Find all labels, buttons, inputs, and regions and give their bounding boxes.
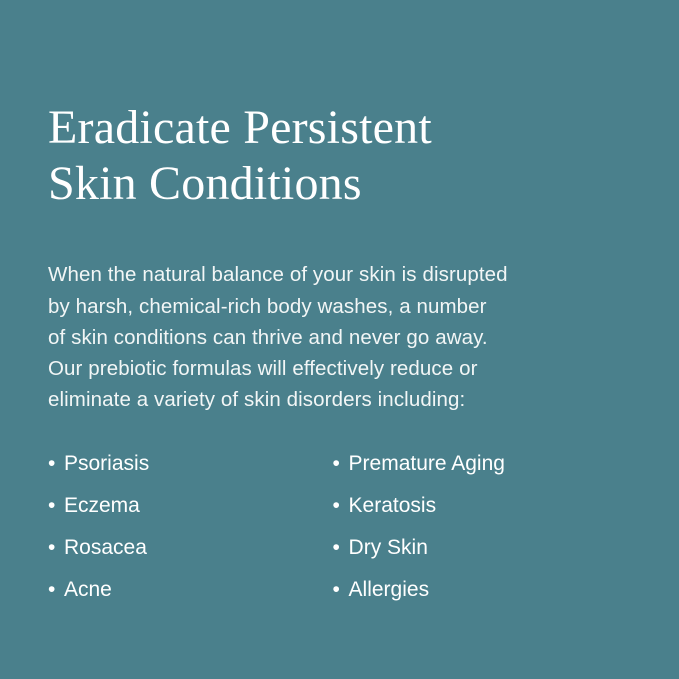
list-item: • Allergies bbox=[333, 579, 631, 600]
list-item: • Psoriasis bbox=[48, 453, 333, 474]
bullet-icon: • bbox=[48, 453, 64, 474]
list-item: • Rosacea bbox=[48, 537, 333, 558]
list-item-label: Psoriasis bbox=[64, 453, 149, 474]
promo-card: Eradicate Persistent Skin Conditions Whe… bbox=[0, 0, 679, 679]
bullet-icon: • bbox=[48, 537, 64, 558]
body-paragraph: When the natural balance of your skin is… bbox=[48, 259, 631, 415]
list-item: • Keratosis bbox=[333, 495, 631, 516]
list-item: • Eczema bbox=[48, 495, 333, 516]
list-item-label: Allergies bbox=[349, 579, 430, 600]
list-item-label: Acne bbox=[64, 579, 112, 600]
list-item: • Dry Skin bbox=[333, 537, 631, 558]
bullet-icon: • bbox=[333, 495, 349, 516]
body-line-3: of skin conditions can thrive and never … bbox=[48, 322, 631, 353]
body-line-2: by harsh, chemical-rich body washes, a n… bbox=[48, 291, 631, 322]
conditions-lists: • Psoriasis • Eczema • Rosacea • Acne • … bbox=[48, 453, 631, 621]
list-item-label: Keratosis bbox=[349, 495, 437, 516]
list-item: • Acne bbox=[48, 579, 333, 600]
conditions-list-column-2: • Premature Aging • Keratosis • Dry Skin… bbox=[333, 453, 631, 621]
list-item-label: Dry Skin bbox=[349, 537, 428, 558]
conditions-list-column-1: • Psoriasis • Eczema • Rosacea • Acne bbox=[48, 453, 333, 621]
bullet-icon: • bbox=[48, 495, 64, 516]
page-title-line-1: Eradicate Persistent bbox=[48, 100, 631, 156]
page-title: Eradicate Persistent Skin Conditions bbox=[48, 100, 631, 211]
bullet-icon: • bbox=[333, 537, 349, 558]
body-line-5: eliminate a variety of skin disorders in… bbox=[48, 384, 631, 415]
body-line-4: Our prebiotic formulas will effectively … bbox=[48, 353, 631, 384]
list-item-label: Rosacea bbox=[64, 537, 147, 558]
list-item: • Premature Aging bbox=[333, 453, 631, 474]
bullet-icon: • bbox=[48, 579, 64, 600]
list-item-label: Premature Aging bbox=[349, 453, 505, 474]
bullet-icon: • bbox=[333, 579, 349, 600]
bullet-icon: • bbox=[333, 453, 349, 474]
list-item-label: Eczema bbox=[64, 495, 140, 516]
body-line-1: When the natural balance of your skin is… bbox=[48, 259, 631, 290]
page-title-line-2: Skin Conditions bbox=[48, 156, 631, 212]
